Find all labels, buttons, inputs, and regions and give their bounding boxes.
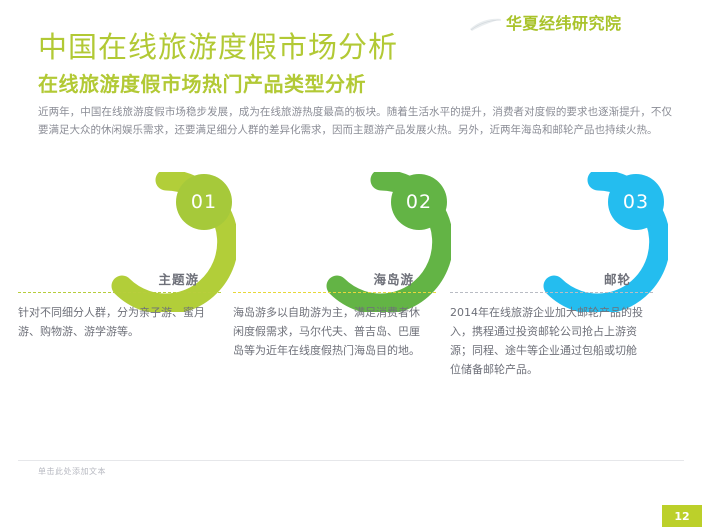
column-body-1: 针对不同细分人群，分为亲子游、蜜月游、购物游、游学游等。 <box>18 303 208 341</box>
step-number: 01 <box>191 191 217 213</box>
column-label-row-2: 海岛游 <box>233 269 436 289</box>
label-underline-1 <box>18 292 221 293</box>
step-badge-2: 02 <box>391 174 447 230</box>
column-label: 邮轮 <box>604 269 653 288</box>
intro-paragraph: 近两年，中国在线旅游度假市场稳步发展，成为在线旅游热度最高的板块。随着生活水平的… <box>38 103 672 139</box>
column-body-3: 2014年在线旅游企业加大邮轮产品的投入，携程通过投资邮轮公司抢占上游资源；同程… <box>450 303 646 379</box>
logo-text: 华夏经纬研究院 <box>506 10 622 34</box>
column-body-2: 海岛游多以自助游为主，满足消费者休闲度假需求，马尔代夫、普吉岛、巴厘岛等为近年在… <box>233 303 423 360</box>
label-underline-2 <box>233 292 436 293</box>
column-label-row-1: 主题游 <box>18 269 221 289</box>
step-number: 02 <box>406 191 432 213</box>
column-theme-travel: 01 主题游 针对不同细分人群，分为亲子游、蜜月游、购物游、游学游等。 <box>18 168 233 428</box>
page-subtitle: 在线旅游度假市场热门产品类型分析 <box>38 68 366 97</box>
column-cruise: 03 邮轮 2014年在线旅游企业加大邮轮产品的投入，携程通过投资邮轮公司抢占上… <box>450 168 665 428</box>
column-label-row-3: 邮轮 <box>450 269 653 289</box>
columns-container: 01 主题游 针对不同细分人群，分为亲子游、蜜月游、购物游、游学游等。 02 海… <box>0 168 702 428</box>
page-title: 中国在线旅游度假市场分析 <box>38 24 398 66</box>
slide-root: 华夏经纬研究院 中国在线旅游度假市场分析 在线旅游度假市场热门产品类型分析 近两… <box>0 0 702 530</box>
step-badge-3: 03 <box>608 174 664 230</box>
step-badge-1: 01 <box>176 174 232 230</box>
page-number-badge: 12 <box>662 505 702 527</box>
column-island-travel: 02 海岛游 海岛游多以自助游为主，满足消费者休闲度假需求，马尔代夫、普吉岛、巴… <box>233 168 448 428</box>
step-number: 03 <box>623 191 649 213</box>
page-number: 12 <box>674 510 689 523</box>
footer-divider <box>18 460 684 461</box>
swoosh-icon <box>470 18 502 32</box>
column-label: 主题游 <box>158 269 221 288</box>
footer-placeholder-text[interactable]: 单击此处添加文本 <box>38 466 106 477</box>
label-underline-3 <box>450 292 653 293</box>
column-label: 海岛游 <box>373 269 436 288</box>
brand-logo: 华夏经纬研究院 <box>470 10 622 34</box>
